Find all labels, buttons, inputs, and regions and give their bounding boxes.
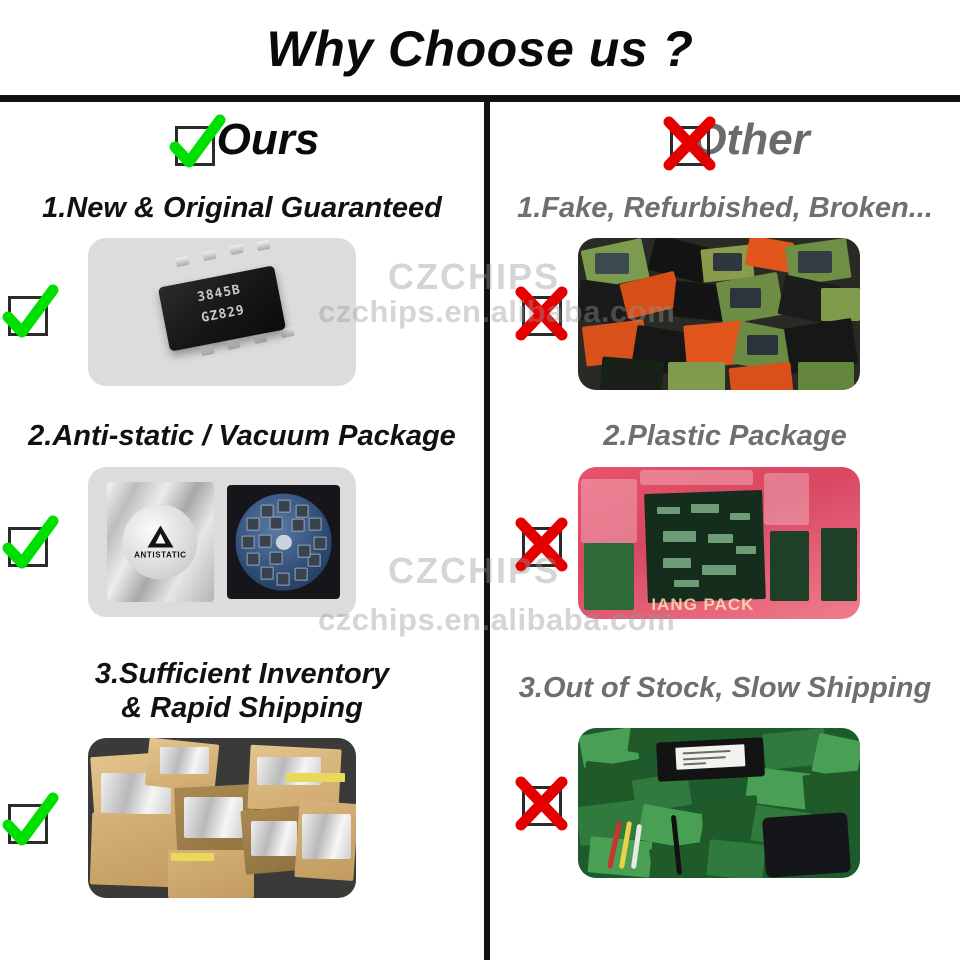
plastic-bag-pcb-photo: IANG PACK	[578, 467, 860, 619]
check-mark-icon	[171, 118, 223, 170]
plastic-bag-text: IANG PACK	[651, 595, 754, 615]
top-divider-rule	[0, 95, 960, 102]
antistatic-label: ANTISTATIC	[134, 550, 186, 559]
ours-row-1: 1.New & Original Guaranteed	[0, 192, 484, 398]
black-pad	[762, 812, 851, 878]
cross-glyph	[512, 774, 574, 836]
page-title: Why Choose us ?	[267, 20, 694, 78]
check-mark-icon	[4, 288, 56, 340]
antistatic-bag-photo: ANTISTATIC	[88, 467, 356, 617]
ours-row-3-label: 3.Sufficient Inventory & Rapid Shipping	[0, 658, 484, 725]
scrap-chips-photo	[578, 238, 860, 390]
cross-mark-icon	[518, 519, 570, 571]
chip-reel-tray	[227, 485, 340, 599]
cross-glyph	[512, 515, 574, 577]
cross-glyph	[512, 284, 574, 346]
esd-warning-icon	[147, 525, 173, 547]
module-label	[676, 744, 746, 769]
check-glyph	[165, 114, 227, 176]
cross-mark-icon	[518, 778, 570, 830]
other-row-3: 3.Out of Stock, Slow Shipping	[490, 672, 960, 908]
check-mark-icon	[4, 519, 56, 571]
ours-column: Ours 1.New & Original Guaranteed	[0, 102, 484, 960]
warehouse-boxes-photo	[88, 738, 356, 898]
cross-mark-icon	[518, 288, 570, 340]
other-row-1-label: 1.Fake, Refurbished, Broken...	[490, 192, 960, 226]
scrap-boards-photo	[578, 728, 860, 878]
ours-row-2: 2.Anti-static / Vacuum Package ANTISTA	[0, 420, 484, 633]
other-column: Other 1.Fake, Refurbished, Broken...	[490, 102, 960, 960]
chip-photo: 3845B GZ829	[88, 238, 356, 386]
title-bar: Why Choose us ?	[0, 0, 960, 97]
ours-row-3: 3.Sufficient Inventory & Rapid Shipping	[0, 658, 484, 917]
other-row-3-label: 3.Out of Stock, Slow Shipping	[490, 672, 960, 706]
why-choose-us-infographic: Why Choose us ? Ours 1.New & Original Gu…	[0, 0, 960, 960]
ours-column-header: Ours	[0, 102, 484, 178]
antistatic-bag: ANTISTATIC	[107, 482, 214, 602]
check-glyph	[0, 792, 60, 854]
black-module	[656, 737, 765, 782]
other-column-header: Other	[490, 102, 960, 178]
check-glyph	[0, 284, 60, 346]
check-glyph	[0, 515, 60, 577]
ours-row-1-label: 1.New & Original Guaranteed	[0, 192, 484, 226]
other-row-2: 2.Plastic Package	[490, 420, 960, 633]
other-row-1: 1.Fake, Refurbished, Broken...	[490, 192, 960, 398]
ours-row-2-label: 2.Anti-static / Vacuum Package	[0, 420, 484, 454]
other-row-2-label: 2.Plastic Package	[490, 420, 960, 454]
cross-glyph	[660, 114, 722, 176]
ours-heading: Ours	[217, 115, 320, 165]
check-mark-icon	[4, 796, 56, 848]
cross-mark-icon	[666, 118, 718, 170]
